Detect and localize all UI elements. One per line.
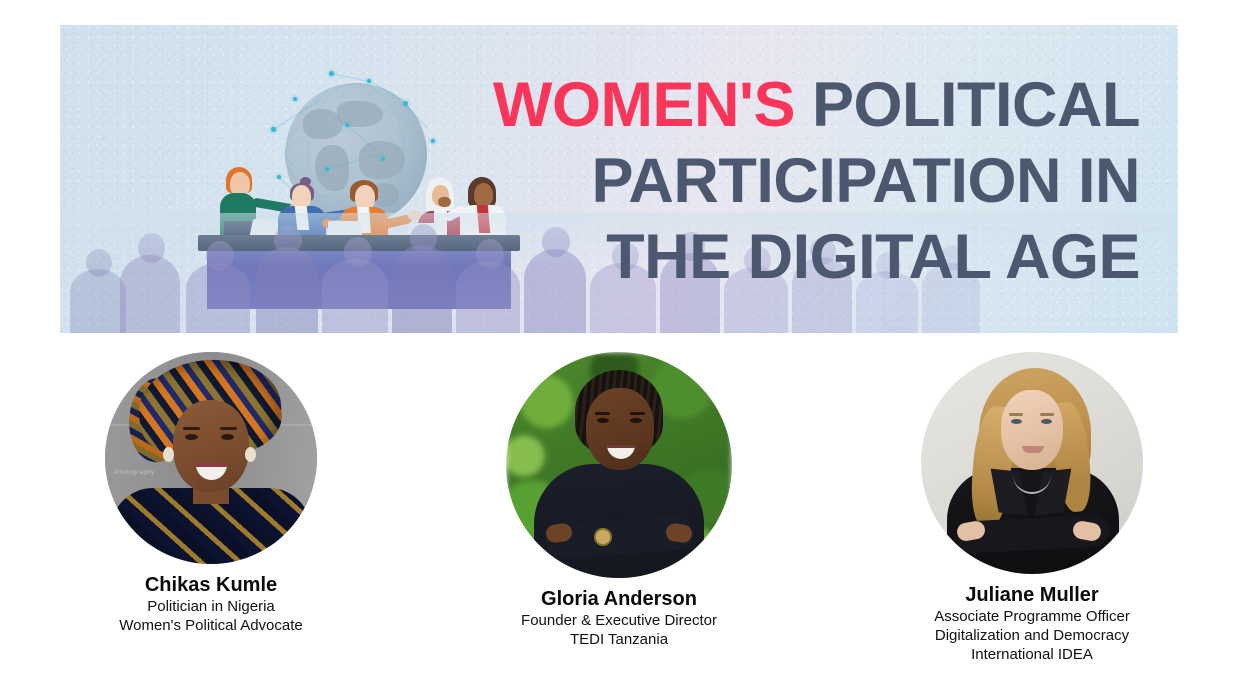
photo-watermark: Photography: [115, 470, 155, 476]
event-banner: WOMEN'S POLITICAL PARTICIPATION IN THE D…: [60, 25, 1178, 333]
speaker-name: Juliane Muller: [887, 583, 1177, 607]
banner-title-line-3: THE DIGITAL AGE: [420, 219, 1140, 295]
speaker-card-1: Photography Chikas Kumle Politician in N…: [66, 352, 356, 635]
speaker-title-line: Associate Programme Officer: [887, 607, 1177, 626]
banner-title-line-1-rest: POLITICAL: [795, 70, 1140, 140]
speaker-card-2: Gloria Anderson Founder & Executive Dire…: [474, 352, 764, 649]
speakers-row: Photography Chikas Kumle Politician in N…: [0, 340, 1235, 680]
speaker-name: Chikas Kumle: [66, 573, 356, 597]
speaker-photo-juliane-muller: [921, 352, 1143, 574]
speaker-title-line: Politician in Nigeria: [66, 597, 356, 616]
banner-title-line-2: PARTICIPATION IN: [420, 143, 1140, 219]
speaker-title-line: Founder & Executive Director: [474, 611, 764, 630]
banner-title: WOMEN'S POLITICAL PARTICIPATION IN THE D…: [420, 67, 1140, 295]
speaker-photo-gloria-anderson: [506, 352, 732, 578]
speaker-title-line: Women's Political Advocate: [66, 616, 356, 635]
speaker-name: Gloria Anderson: [474, 587, 764, 611]
speaker-title-line: TEDI Tanzania: [474, 630, 764, 649]
banner-title-highlight: WOMEN'S: [493, 70, 795, 140]
speaker-title-line: International IDEA: [887, 645, 1177, 664]
speaker-title-line: Digitalization and Democracy: [887, 626, 1177, 645]
banner-title-line-1: WOMEN'S POLITICAL: [420, 67, 1140, 143]
speaker-photo-chikas-kumle: Photography: [105, 352, 317, 564]
speaker-card-3: Juliane Muller Associate Programme Offic…: [887, 352, 1177, 664]
